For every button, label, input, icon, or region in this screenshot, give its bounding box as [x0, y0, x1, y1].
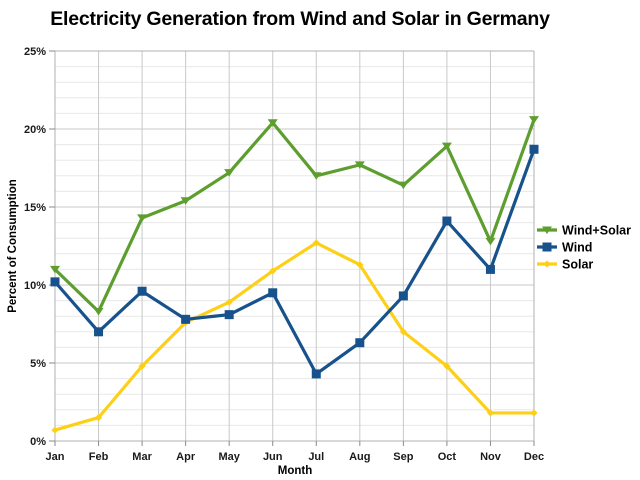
- x-tick-label: Feb: [89, 451, 109, 463]
- series-wind-plus-solar: [50, 116, 539, 315]
- x-tick-label: Jul: [308, 451, 324, 463]
- data-point-marker: [530, 145, 539, 154]
- legend-item-wind[interactable]: Wind: [537, 241, 592, 255]
- chart-container: Electricity Generation from Wind and Sol…: [0, 0, 640, 480]
- x-tick-label: Sep: [393, 451, 413, 463]
- data-point-marker: [181, 315, 190, 324]
- data-point-marker: [268, 288, 277, 297]
- data-point-marker: [138, 287, 147, 296]
- data-point-marker: [398, 182, 408, 190]
- x-axis-title: Month: [278, 465, 312, 477]
- legend-label: Wind+Solar: [562, 224, 631, 238]
- data-point-marker: [51, 426, 58, 433]
- data-point-marker: [530, 409, 537, 416]
- data-point-marker: [94, 327, 103, 336]
- chart-plot: 0%5%10%15%20%25% JanFebMarAprMayJunJulAu…: [0, 0, 640, 480]
- y-tick-label: 0%: [30, 436, 46, 448]
- data-point-marker: [442, 217, 451, 226]
- legend-item-solar[interactable]: Solar: [537, 258, 593, 272]
- y-axis-title: Percent of Consumption: [7, 179, 19, 313]
- y-axis-ticks: [49, 51, 55, 441]
- legend-label: Solar: [562, 258, 593, 272]
- y-axis-tick-labels: 0%5%10%15%20%25%: [24, 46, 46, 448]
- x-axis-tick-labels: JanFebMarAprMayJunJulAugSepOctNovDec: [46, 451, 545, 463]
- x-tick-label: Jun: [263, 451, 283, 463]
- x-tick-label: Mar: [132, 451, 152, 463]
- y-tick-label: 20%: [24, 124, 46, 136]
- chart-legend: Wind+SolarWindSolar: [537, 224, 631, 272]
- x-tick-label: Jan: [46, 451, 65, 463]
- series-wind: [51, 145, 539, 379]
- y-tick-label: 10%: [24, 280, 46, 292]
- x-tick-label: Dec: [524, 451, 544, 463]
- data-point-marker: [312, 369, 321, 378]
- data-point-marker: [355, 338, 364, 347]
- x-tick-label: Oct: [438, 451, 457, 463]
- series-line: [55, 120, 534, 312]
- x-axis-ticks: [55, 441, 534, 446]
- data-point-marker: [399, 291, 408, 300]
- series-lines: [50, 116, 539, 434]
- x-tick-label: May: [218, 451, 240, 463]
- gridlines-minor: [55, 67, 534, 426]
- data-point-marker: [485, 238, 495, 246]
- y-tick-label: 25%: [24, 46, 46, 58]
- data-point-marker: [543, 243, 552, 252]
- data-point-marker: [486, 265, 495, 274]
- x-tick-label: Nov: [480, 451, 502, 463]
- data-point-marker: [51, 277, 60, 286]
- y-tick-label: 5%: [30, 358, 46, 370]
- data-point-marker: [529, 116, 539, 124]
- data-point-marker: [543, 260, 550, 267]
- x-tick-label: Apr: [176, 451, 196, 463]
- y-tick-label: 15%: [24, 202, 46, 214]
- legend-label: Wind: [562, 241, 592, 255]
- legend-item-wind-plus-solar[interactable]: Wind+Solar: [537, 224, 631, 238]
- x-tick-label: Aug: [349, 451, 370, 463]
- data-point-marker: [94, 308, 104, 316]
- data-point-marker: [225, 310, 234, 319]
